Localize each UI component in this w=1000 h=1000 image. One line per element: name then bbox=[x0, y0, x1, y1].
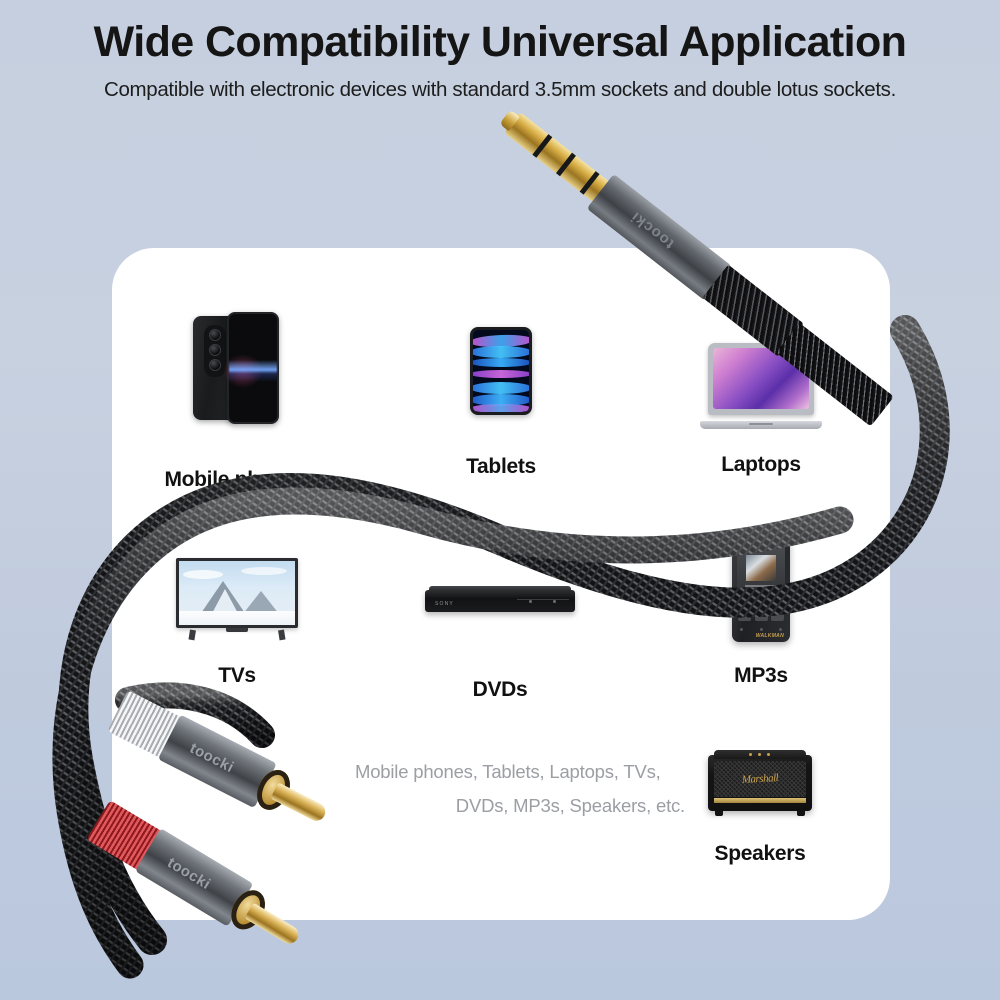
speaker-knob-icon[interactable] bbox=[767, 753, 770, 756]
device-item-dvds: SONY DVDs bbox=[425, 586, 575, 702]
camera-lens-icon bbox=[209, 344, 221, 356]
mp3-soft-keys[interactable] bbox=[740, 628, 782, 631]
device-label-speakers: Speakers bbox=[705, 842, 815, 866]
tv-screen bbox=[179, 561, 295, 625]
mp3-play-button[interactable] bbox=[755, 612, 768, 621]
rca-white-brand-logo: toocki bbox=[187, 740, 237, 777]
device-item-mobile-phones: Mobile phones bbox=[155, 312, 317, 492]
speaker-grille: Marshall bbox=[714, 761, 806, 797]
album-art bbox=[746, 555, 776, 581]
speaker-foot bbox=[715, 811, 723, 816]
speaker-gold-strip bbox=[714, 798, 806, 803]
jack-metal-barrel: toocki bbox=[587, 174, 732, 301]
page-title: Wide Compatibility Universal Application bbox=[0, 0, 1000, 67]
mp3-key-icon[interactable] bbox=[760, 628, 763, 631]
speaker-foot bbox=[797, 811, 805, 816]
device-label-dvds: DVDs bbox=[425, 678, 575, 702]
mp3-key-icon[interactable] bbox=[740, 628, 743, 631]
dvd-body: SONY bbox=[425, 586, 575, 618]
device-label-mp3s: MP3s bbox=[732, 664, 790, 688]
summary-line-2: DVDs, MP3s, Speakers, etc. bbox=[355, 789, 685, 823]
mp3-key-icon[interactable] bbox=[779, 628, 782, 631]
jack-brand-logo: toocki bbox=[627, 208, 677, 252]
walkman-logo: WALKMAN bbox=[756, 633, 784, 639]
mp3-prev-button[interactable] bbox=[738, 612, 751, 621]
device-item-speakers: Marshall Speakers bbox=[705, 750, 815, 866]
television-icon bbox=[176, 558, 298, 640]
speaker-knob-icon[interactable] bbox=[758, 753, 761, 756]
speaker-knob-icon[interactable] bbox=[749, 753, 752, 756]
tv-stand-neck bbox=[226, 628, 248, 632]
header-block: Wide Compatibility Universal Application… bbox=[0, 0, 1000, 102]
compatibility-summary: Mobile phones, Tablets, Laptops, TVs, DV… bbox=[355, 755, 685, 823]
phone-front-icon bbox=[227, 312, 279, 424]
camera-lens-icon bbox=[209, 359, 221, 371]
device-label-tablets: Tablets bbox=[440, 455, 562, 479]
speaker-brand-logo: Marshall bbox=[742, 772, 779, 786]
speaker-body: Marshall bbox=[705, 750, 815, 816]
device-item-tvs: TVs bbox=[176, 558, 298, 688]
jack-insulator-ring bbox=[532, 134, 552, 158]
dvd-tray-seam bbox=[517, 599, 569, 600]
aux-35mm-jack-connector: toocki bbox=[520, 112, 900, 392]
mp3-top-contacts bbox=[741, 535, 781, 540]
mp3-body: WALKMAN bbox=[732, 538, 790, 642]
dvd-front-panel: SONY bbox=[425, 590, 575, 612]
device-label-tvs: TVs bbox=[176, 664, 298, 688]
page-subtitle: Compatible with electronic devices with … bbox=[0, 67, 1000, 102]
camera-lens-icon bbox=[209, 329, 221, 341]
mp3-player-icon: WALKMAN bbox=[732, 538, 790, 642]
tv-foot-right bbox=[278, 630, 285, 641]
speaker-icon: Marshall bbox=[705, 750, 815, 816]
smartphone-icon bbox=[193, 312, 279, 428]
tv-panel bbox=[176, 558, 298, 628]
tv-foot-left bbox=[188, 630, 195, 641]
mp3-transport-controls[interactable] bbox=[738, 611, 784, 622]
mp3-screen bbox=[737, 544, 785, 606]
tv-body bbox=[176, 558, 298, 640]
summary-line-1: Mobile phones, Tablets, Laptops, TVs, bbox=[355, 755, 685, 789]
mp3-next-button[interactable] bbox=[771, 612, 784, 621]
laptop-trackpad-notch bbox=[749, 423, 773, 425]
jack-gold-tip bbox=[504, 112, 613, 205]
jack-insulator-ring bbox=[580, 171, 600, 195]
device-item-mp3s: WALKMAN MP3s bbox=[732, 538, 790, 688]
dvd-player-icon: SONY bbox=[425, 586, 575, 618]
rca-red-brand-logo: toocki bbox=[164, 854, 213, 893]
jack-insulator-ring bbox=[556, 153, 576, 177]
dvd-button-icon bbox=[529, 600, 532, 603]
device-label-mobile-phones: Mobile phones bbox=[155, 468, 317, 492]
device-label-laptops: Laptops bbox=[700, 453, 822, 477]
screen-wallpaper bbox=[229, 360, 277, 382]
dvd-button-icon bbox=[553, 600, 556, 603]
dvd-brand-logo: SONY bbox=[435, 601, 454, 607]
speaker-knobs[interactable] bbox=[749, 753, 770, 756]
